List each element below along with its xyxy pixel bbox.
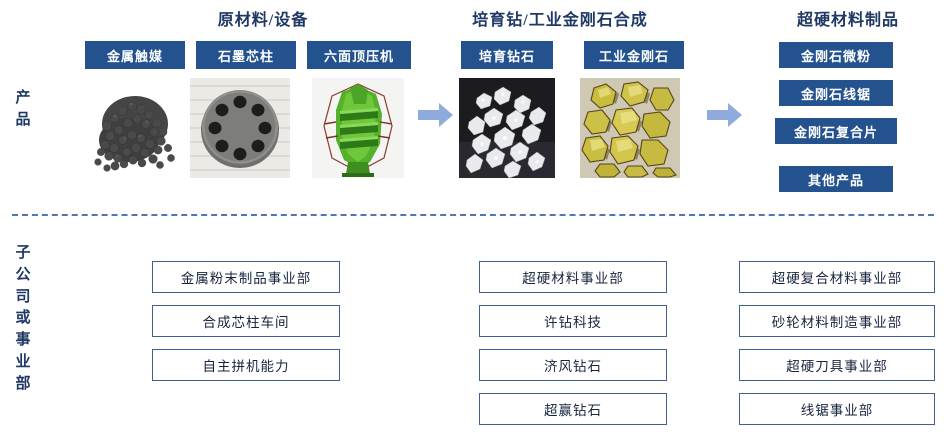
chip-graphite-core-column[interactable]: 石墨芯柱	[196, 41, 296, 69]
row-label-subsidiaries: 子 公 司 或 事 业 部	[10, 243, 36, 395]
section-title-raw-materials-equipment: 原材料/设备	[178, 6, 348, 30]
row-label-products: 产 品	[10, 88, 36, 132]
arrow-stage-1-to-2-icon	[418, 101, 454, 129]
diagram-canvas: 原材料/设备 培育钻/工业金刚石合成 超硬材料制品 产 品 子 公 司 或 事 …	[0, 0, 945, 433]
row-label-products-char-1: 产	[10, 88, 36, 110]
unit-box-superhard-materials-division[interactable]: 超硬材料事业部	[479, 261, 667, 293]
row-label-subsidiaries-char-3: 司	[10, 287, 36, 309]
section-title-superhard-material-products: 超硬材料制品	[752, 6, 944, 30]
unit-box-in-house-press-assembly-capability[interactable]: 自主拼机能力	[152, 349, 340, 381]
unit-box-metal-powder-products-division[interactable]: 金属粉末制品事业部	[152, 261, 340, 293]
section-title-lab-grown-industrial-diamond-synthesis: 培育钻/工业金刚石合成	[440, 6, 680, 30]
row-label-subsidiaries-char-2: 公	[10, 265, 36, 287]
photo-industrial-diamond	[580, 78, 680, 178]
photo-graphite-core-column	[190, 78, 290, 178]
unit-box-jifeng-diamond[interactable]: 济风钻石	[479, 349, 667, 381]
chip-other-products[interactable]: 其他产品	[779, 166, 893, 192]
unit-box-superhard-composite-materials-division[interactable]: 超硬复合材料事业部	[739, 261, 935, 293]
row-label-products-char-2: 品	[10, 110, 36, 132]
unit-box-superhard-cutting-tools-division[interactable]: 超硬刀具事业部	[739, 349, 935, 381]
chip-pdc-compact[interactable]: 金刚石复合片	[775, 118, 897, 144]
photo-cubic-press	[312, 78, 404, 178]
unit-box-xuzuan-technology[interactable]: 许钻科技	[479, 305, 667, 337]
row-label-subsidiaries-char-7: 部	[10, 374, 36, 396]
chip-diamond-wire-saw[interactable]: 金刚石线锯	[779, 80, 893, 106]
photo-lab-grown-diamond	[459, 78, 555, 178]
row-label-subsidiaries-char-6: 业	[10, 352, 36, 374]
unit-box-grinding-wheel-material-manufacturing-division[interactable]: 砂轮材料制造事业部	[739, 305, 935, 337]
unit-box-synthetic-core-column-workshop[interactable]: 合成芯柱车间	[152, 305, 340, 337]
chip-lab-grown-diamond[interactable]: 培育钻石	[461, 41, 553, 69]
chip-cubic-press[interactable]: 六面顶压机	[307, 41, 411, 69]
unit-box-wire-saw-division[interactable]: 线锯事业部	[739, 393, 935, 425]
chip-industrial-diamond[interactable]: 工业金刚石	[584, 41, 684, 69]
row-label-subsidiaries-char-4: 或	[10, 308, 36, 330]
chip-diamond-micropowder[interactable]: 金刚石微粉	[779, 42, 893, 68]
row-label-subsidiaries-char-5: 事	[10, 330, 36, 352]
arrow-stage-2-to-3-icon	[707, 101, 743, 129]
unit-box-chaoying-diamond[interactable]: 超赢钻石	[479, 393, 667, 425]
section-divider	[12, 214, 934, 216]
row-label-subsidiaries-char-1: 子	[10, 243, 36, 265]
photo-metal-catalyst	[85, 78, 185, 178]
chip-metal-catalyst[interactable]: 金属触媒	[85, 41, 185, 69]
